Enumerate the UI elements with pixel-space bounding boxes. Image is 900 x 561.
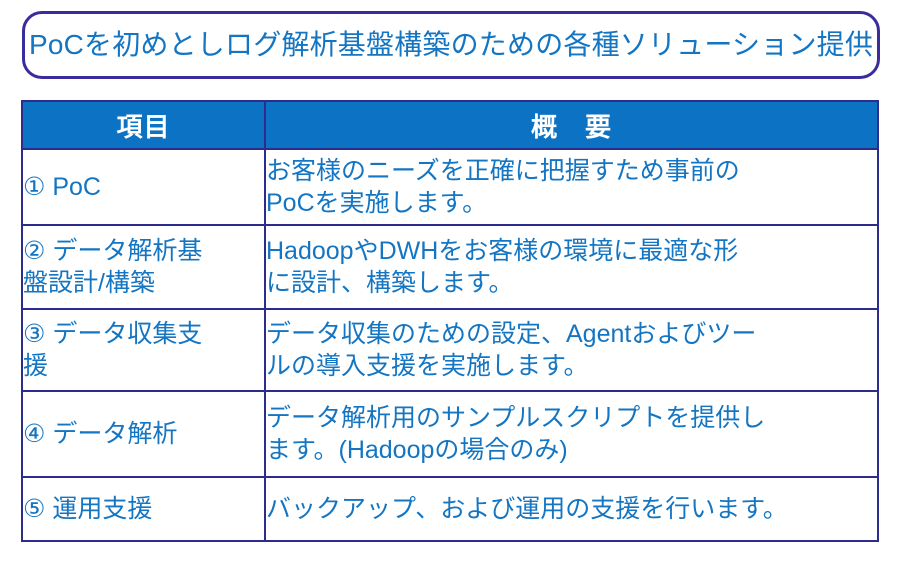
solutions-table: 項目 概 要 ① PoC お客様のニーズを正確に把握すため事前の PoCを実施し… [21,100,879,542]
row-description-cell: HadoopやDWHをお客様の環境に最適な形 に設計、構築します。 [265,225,878,309]
row-description-cell: お客様のニーズを正確に把握すため事前の PoCを実施します。 [265,149,878,225]
item-line: 援 [23,350,264,382]
table-row: ⑤ 運用支援 バックアップ、および運用の支援を行います。 [22,477,878,541]
row-description-cell: データ解析用のサンプルスクリプトを提供し ます。(Hadoopの場合のみ) [265,391,878,477]
description-line: ます。(Hadoopの場合のみ) [266,434,877,466]
description-line: バックアップ、および運用の支援を行います。 [266,493,877,525]
description-line: に設計、構築します。 [266,267,877,299]
row-item-cell: ② データ解析基 盤設計/構築 [22,225,265,309]
table-body: ① PoC お客様のニーズを正確に把握すため事前の PoCを実施します。 ② デ… [22,149,878,541]
item-line: ① PoC [23,171,264,203]
row-description-cell: データ収集のための設定、Agentおよびツー ルの導入支援を実施します。 [265,309,878,391]
item-line: ⑤ 運用支援 [23,493,264,525]
description-line: お客様のニーズを正確に把握すため事前の [266,155,877,187]
description-line: PoCを実施します。 [266,187,877,219]
table-row: ③ データ収集支 援 データ収集のための設定、Agentおよびツー ルの導入支援… [22,309,878,391]
title-banner: PoCを初めとしログ解析基盤構築のための各種ソリューション提供 [22,11,880,79]
description-line: データ収集のための設定、Agentおよびツー [266,318,877,350]
row-item-cell: ③ データ収集支 援 [22,309,265,391]
item-line: ④ データ解析 [23,418,264,450]
column-header-item: 項目 [22,101,265,149]
slide-canvas: PoCを初めとしログ解析基盤構築のための各種ソリューション提供 項目 概 要 ①… [0,0,900,561]
item-line: ③ データ収集支 [23,318,264,350]
description-line: ルの導入支援を実施します。 [266,350,877,382]
item-line: ② データ解析基 [23,235,264,267]
row-item-cell: ⑤ 運用支援 [22,477,265,541]
table-header-row: 項目 概 要 [22,101,878,149]
row-item-cell: ④ データ解析 [22,391,265,477]
description-line: HadoopやDWHをお客様の環境に最適な形 [266,235,877,267]
item-line: 盤設計/構築 [23,267,264,299]
table-row: ① PoC お客様のニーズを正確に把握すため事前の PoCを実施します。 [22,149,878,225]
row-item-cell: ① PoC [22,149,265,225]
table-row: ② データ解析基 盤設計/構築 HadoopやDWHをお客様の環境に最適な形 に… [22,225,878,309]
description-line: データ解析用のサンプルスクリプトを提供し [266,402,877,434]
slide-title: PoCを初めとしログ解析基盤構築のための各種ソリューション提供 [29,30,873,61]
column-header-summary: 概 要 [265,101,878,149]
table-header: 項目 概 要 [22,101,878,149]
table-row: ④ データ解析 データ解析用のサンプルスクリプトを提供し ます。(Hadoopの… [22,391,878,477]
row-description-cell: バックアップ、および運用の支援を行います。 [265,477,878,541]
